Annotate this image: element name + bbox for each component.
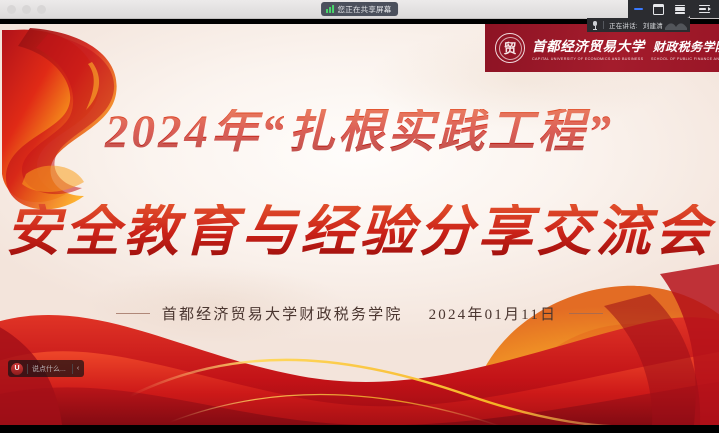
divider — [603, 21, 604, 29]
university-name-en: CAPITAL UNIVERSITY OF ECONOMICS AND BUSI… — [532, 57, 643, 61]
chevron-left-icon[interactable]: ‹ — [77, 365, 82, 372]
zoom-screen-share-window: 您正在共享屏幕 — [0, 0, 719, 433]
microphone-icon[interactable] — [593, 21, 598, 30]
divider — [27, 364, 28, 374]
university-seal-icon: 贸 — [495, 33, 525, 63]
school-name-en: SCHOOL OF PUBLIC FINANCE AND TAXATION — [651, 57, 719, 61]
avatar-initial: U — [14, 365, 19, 372]
signal-bars-icon — [326, 5, 334, 13]
ribbon-artwork-icon — [0, 24, 719, 425]
participants-list-button[interactable] — [672, 2, 688, 16]
zoom-window-button[interactable] — [37, 5, 46, 14]
collapse-panel-button[interactable] — [690, 0, 719, 18]
user-avatar-icon: U — [11, 363, 23, 375]
minimize-window-button[interactable] — [22, 5, 31, 14]
divider — [72, 364, 73, 374]
university-logo-text: 首都经济贸易大学 财政税务学院 CAPITAL UNIVERSITY OF EC… — [532, 35, 719, 61]
video-wave-icon — [665, 20, 687, 30]
school-name-cn: 财政税务学院 — [653, 38, 719, 55]
screen-share-label: 您正在共享屏幕 — [338, 4, 392, 15]
chat-input-pill[interactable]: U 说点什么... ‹ — [8, 360, 84, 377]
meeting-window-controls — [628, 0, 690, 18]
close-window-button[interactable] — [7, 5, 16, 14]
university-name-cn: 首都经济贸易大学 — [532, 35, 645, 55]
active-speaker-label: 正在讲话: — [609, 20, 638, 30]
collapse-panel-icon — [699, 5, 710, 14]
maximize-meeting-button[interactable] — [651, 2, 667, 16]
letterbox-bottom — [0, 425, 719, 433]
chat-input-placeholder[interactable]: 说点什么... — [32, 364, 66, 374]
slide-decoration — [0, 24, 719, 425]
active-speaker-name: 刘建清 — [643, 20, 663, 30]
shared-slide: 贸 首都经济贸易大学 财政税务学院 CAPITAL UNIVERSITY OF … — [0, 24, 719, 425]
minimize-meeting-button[interactable] — [630, 2, 646, 16]
traffic-lights — [7, 5, 46, 14]
active-speaker-bar: 正在讲话: 刘建清 — [587, 18, 690, 32]
screen-share-banner[interactable]: 您正在共享屏幕 — [321, 2, 399, 16]
